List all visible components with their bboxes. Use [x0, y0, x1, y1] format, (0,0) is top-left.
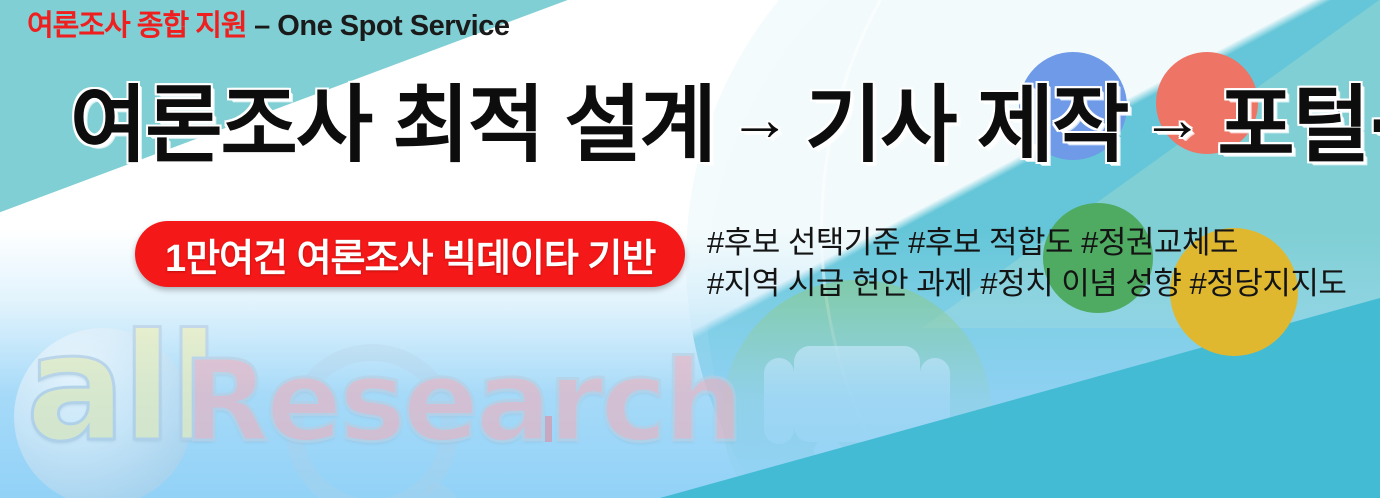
banner-content: 여론조사 종합 지원 – One Spot Service 여론조사 최적 설계…: [0, 0, 1380, 498]
bigdata-badge: 1만여건 여론조사 빅데이타 기반: [135, 221, 685, 287]
tagline-english: – One Spot Service: [247, 10, 510, 42]
tagline-row: 여론조사 종합 지원 – One Spot Service: [27, 12, 509, 41]
hashtag-line-1: #후보 선택기준 #후보 적합도 #정권교체도: [707, 222, 1346, 263]
promo-banner: all Research 여론조사 종합 지원 – One Spot Servi…: [0, 0, 1380, 498]
headline-step-1: 여론조사 최적 설계: [70, 78, 715, 172]
bigdata-badge-label: 1만여건 여론조사 빅데이타 기반: [165, 227, 655, 282]
hashtag-line-2: #지역 시급 현안 과제 #정치 이념 성향 #정당지지도: [707, 263, 1346, 304]
arrow-right-icon-1: →: [715, 85, 805, 154]
arrow-right-icon-2: →: [1127, 85, 1217, 154]
headline-step-3: 포털·언론사 보도: [1217, 78, 1380, 172]
headline-step-2: 기사 제작: [805, 78, 1127, 172]
headline-process-flow: 여론조사 최적 설계→기사 제작→포털·언론사 보도: [70, 78, 1380, 172]
tagline-korean: 여론조사 종합 지원: [27, 10, 247, 42]
hashtag-list: #후보 선택기준 #후보 적합도 #정권교체도 #지역 시급 현안 과제 #정치…: [707, 222, 1346, 304]
